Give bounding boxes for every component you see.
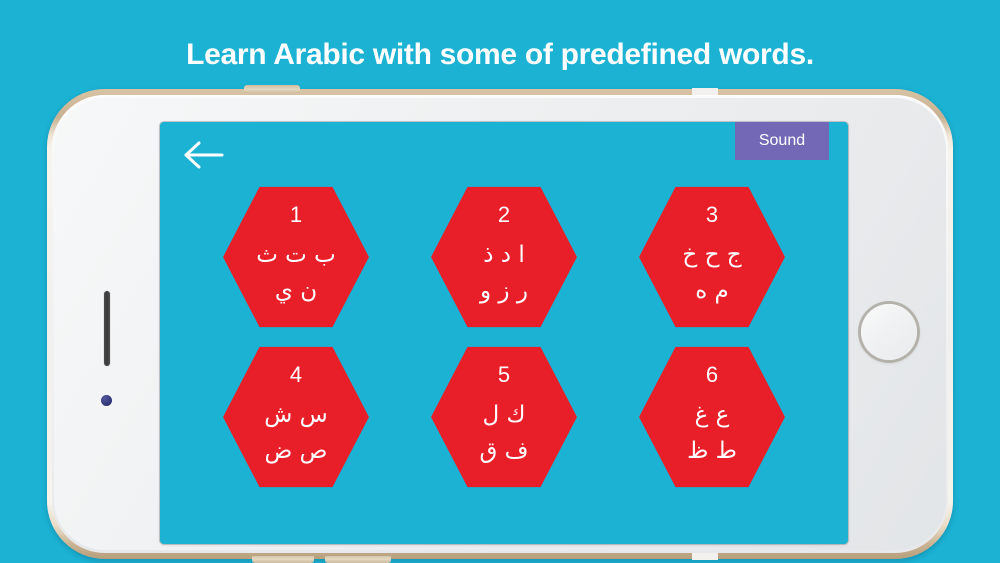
letter-group-row-1: 3 ج ح خ م ه 2 ا د ذ ر ز و 1 bbox=[223, 184, 785, 330]
hexagon-number: 2 bbox=[498, 204, 510, 226]
front-camera-icon bbox=[101, 395, 112, 406]
app-screen: Sound 3 ج ح خ م ه 2 ا د ذ bbox=[160, 122, 848, 544]
sound-button[interactable]: Sound bbox=[735, 122, 829, 160]
hexagon-letters-line-2: ن ي bbox=[275, 276, 317, 306]
back-arrow-icon[interactable] bbox=[182, 138, 226, 172]
phone-mockup: Sound 3 ج ح خ م ه 2 ا د ذ bbox=[47, 89, 953, 559]
hexagon-letters-line-2: ط ظ bbox=[687, 436, 737, 466]
hexagon-letters-line-1: ع غ bbox=[695, 400, 730, 430]
hexagon-number: 3 bbox=[706, 204, 718, 226]
hexagon-letters-line-1: ا د ذ bbox=[483, 240, 525, 270]
phone-bezel: Sound 3 ج ح خ م ه 2 ا د ذ bbox=[52, 95, 948, 553]
hexagon-letters-line-1: ج ح خ bbox=[682, 240, 741, 270]
hexagon-number: 4 bbox=[290, 364, 302, 386]
hexagon-letters-line-2: م ه bbox=[695, 276, 729, 306]
hexagon-letters-line-2: ف ق bbox=[480, 436, 529, 466]
sound-button-label: Sound bbox=[759, 132, 805, 150]
letter-group-grid: 3 ج ح خ م ه 2 ا د ذ ر ز و 1 bbox=[160, 184, 848, 544]
hexagon-letters-line-1: ب ت ث bbox=[256, 240, 336, 270]
letter-group-hexagon[interactable]: 2 ا د ذ ر ز و bbox=[431, 184, 577, 330]
hexagon-number: 6 bbox=[706, 364, 718, 386]
phone-body: Sound 3 ج ح خ م ه 2 ا د ذ bbox=[54, 98, 946, 550]
home-button[interactable] bbox=[858, 301, 920, 363]
hexagon-letters-line-2: ص ض bbox=[265, 436, 328, 466]
hexagon-number: 1 bbox=[290, 204, 302, 226]
letter-group-hexagon[interactable]: 4 س ش ص ض bbox=[223, 344, 369, 490]
power-button[interactable] bbox=[244, 85, 300, 92]
page-title: Learn Arabic with some of predefined wor… bbox=[0, 34, 1000, 76]
volume-down-button[interactable] bbox=[325, 556, 391, 563]
earpiece-speaker bbox=[104, 291, 110, 366]
letter-group-hexagon[interactable]: 3 ج ح خ م ه bbox=[639, 184, 785, 330]
letter-group-row-2: 6 ع غ ط ظ 5 ك ل ف ق 4 س ش bbox=[223, 344, 785, 490]
hexagon-number: 5 bbox=[498, 364, 510, 386]
letter-group-hexagon[interactable]: 6 ع غ ط ظ bbox=[639, 344, 785, 490]
hexagon-letters-line-2: ر ز و bbox=[480, 276, 528, 306]
letter-group-hexagon[interactable]: 5 ك ل ف ق bbox=[431, 344, 577, 490]
hexagon-letters-line-1: ك ل bbox=[483, 400, 526, 430]
hexagon-letters-line-1: س ش bbox=[264, 400, 327, 430]
promo-screenshot: Learn Arabic with some of predefined wor… bbox=[0, 0, 1000, 563]
letter-group-hexagon[interactable]: 1 ب ت ث ن ي bbox=[223, 184, 369, 330]
volume-up-button[interactable] bbox=[252, 556, 314, 563]
